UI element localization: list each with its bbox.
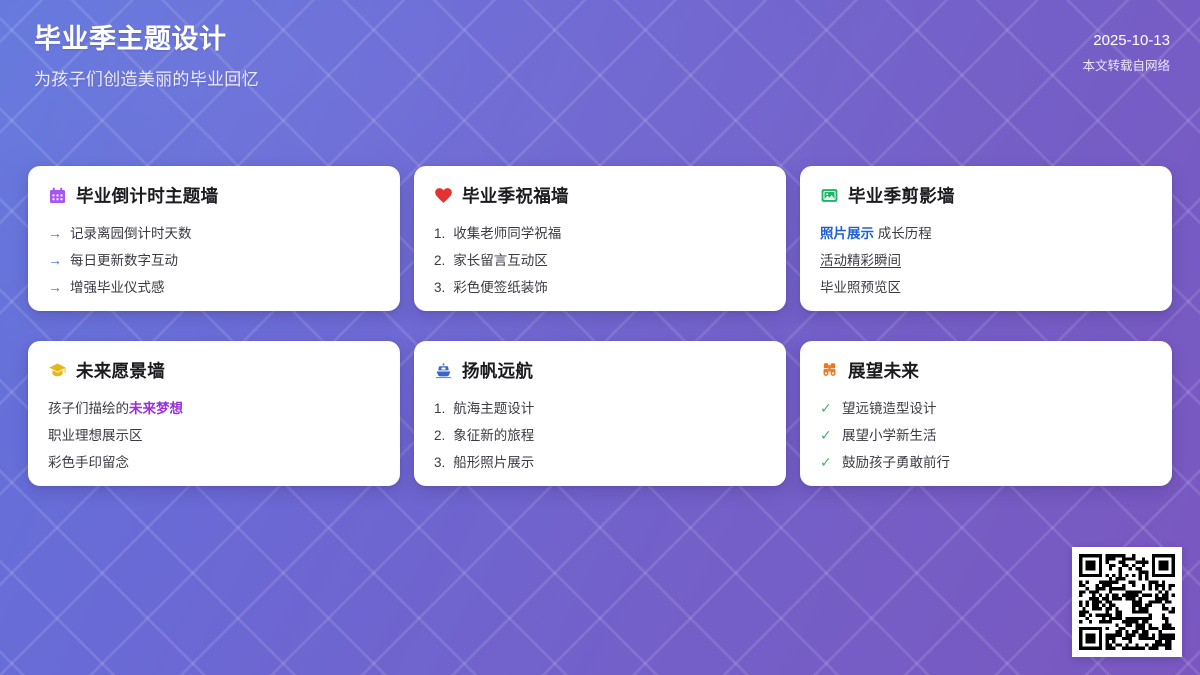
image-icon [820, 186, 839, 205]
body-text: 职业理想展示区 [48, 428, 143, 443]
card-list: 1. 航海主题设计 2. 象征新的旅程 3. 船形照片展示 [434, 395, 766, 476]
highlight-text: 未来梦想 [129, 401, 183, 416]
list-item-marker: 3. [434, 274, 445, 301]
list-item-marker: 1. [434, 395, 445, 422]
card-list: → 记录离园倒计时天数 → 每日更新数字互动 → 增强毕业仪式感 [48, 220, 380, 301]
list-item[interactable]: 1. 航海主题设计 [434, 395, 766, 422]
page-title: 毕业季主题设计 [34, 22, 259, 57]
qr-code-image [1079, 554, 1175, 650]
arrow-right-icon: → [48, 274, 62, 301]
list-item-marker: 1. [434, 220, 445, 247]
card-grid: 毕业倒计时主题墙 → 记录离园倒计时天数 → 每日更新数字互动 → 增强毕业仪式… [28, 166, 1172, 486]
card-header: 未来愿景墙 [48, 358, 380, 383]
qr-code[interactable] [1072, 547, 1182, 657]
list-item[interactable]: ✓ 鼓励孩子勇敢前行 [820, 449, 1152, 476]
card-list: 1. 收集老师同学祝福 2. 家长留言互动区 3. 彩色便签纸装饰 [434, 220, 766, 301]
arrow-right-icon: → [48, 247, 62, 274]
page-subtitle: 为孩子们创造美丽的毕业回忆 [34, 65, 259, 90]
list-item[interactable]: 3. 船形照片展示 [434, 449, 766, 476]
list-item-label: 家长留言互动区 [453, 247, 548, 274]
list-item-label: 记录离园倒计时天数 [70, 220, 192, 247]
source-note: 本文转载自网络 [1082, 56, 1170, 76]
card-3[interactable]: 毕业季剪影墙 照片展示 成长历程活动精彩瞬间毕业照预览区 [800, 166, 1172, 311]
date-label: 2025-10-13 [1082, 30, 1170, 52]
list-item-label: 增强毕业仪式感 [70, 274, 165, 301]
list-item-label: 望远镜造型设计 [842, 395, 937, 422]
card-1[interactable]: 毕业倒计时主题墙 → 记录离园倒计时天数 → 每日更新数字互动 → 增强毕业仪式… [28, 166, 400, 311]
ship-icon [434, 361, 453, 380]
list-item-label: 彩色便签纸装饰 [453, 274, 548, 301]
body-text: 成长历程 [874, 226, 932, 241]
list-item[interactable]: 活动精彩瞬间 [820, 247, 1152, 274]
card-4[interactable]: 未来愿景墙 孩子们描绘的未来梦想职业理想展示区彩色手印留念 [28, 341, 400, 486]
highlight-text: 照片展示 [820, 226, 874, 241]
check-icon: ✓ [820, 449, 834, 476]
list-item-label: 每日更新数字互动 [70, 247, 178, 274]
list-item[interactable]: 孩子们描绘的未来梦想 [48, 395, 380, 422]
header: 毕业季主题设计 为孩子们创造美丽的毕业回忆 [34, 22, 259, 90]
card-header: 毕业季祝福墙 [434, 183, 766, 208]
card-title: 未来愿景墙 [76, 358, 165, 383]
list-item-label: 航海主题设计 [453, 395, 534, 422]
card-title: 毕业季祝福墙 [462, 183, 569, 208]
calendar-icon [48, 186, 67, 205]
list-item-label: 船形照片展示 [453, 449, 534, 476]
card-header: 展望未来 [820, 358, 1152, 383]
check-icon: ✓ [820, 422, 834, 449]
list-item-label: 象征新的旅程 [453, 422, 534, 449]
check-icon: ✓ [820, 395, 834, 422]
list-item[interactable]: 彩色手印留念 [48, 449, 380, 476]
list-item[interactable]: ✓ 展望小学新生活 [820, 422, 1152, 449]
card-title: 毕业季剪影墙 [848, 183, 955, 208]
card-list: ✓ 望远镜造型设计 ✓ 展望小学新生活 ✓ 鼓励孩子勇敢前行 [820, 395, 1152, 476]
card-5[interactable]: 扬帆远航 1. 航海主题设计 2. 象征新的旅程 3. 船形照片展示 [414, 341, 786, 486]
card-title: 扬帆远航 [462, 358, 533, 383]
list-item[interactable]: → 记录离园倒计时天数 [48, 220, 380, 247]
binoculars-icon [820, 361, 839, 380]
list-item[interactable]: 1. 收集老师同学祝福 [434, 220, 766, 247]
body-text: 孩子们描绘的 [48, 401, 129, 416]
list-item-marker: 2. [434, 247, 445, 274]
graduation-cap-icon [48, 361, 67, 380]
list-item[interactable]: 2. 象征新的旅程 [434, 422, 766, 449]
list-item[interactable]: 职业理想展示区 [48, 422, 380, 449]
arrow-right-icon: → [48, 220, 62, 247]
list-item-label: 收集老师同学祝福 [453, 220, 561, 247]
list-item[interactable]: 毕业照预览区 [820, 274, 1152, 301]
heart-icon [434, 186, 453, 205]
link-text[interactable]: 活动精彩瞬间 [820, 253, 901, 268]
card-list: 照片展示 成长历程活动精彩瞬间毕业照预览区 [820, 220, 1152, 301]
list-item[interactable]: → 每日更新数字互动 [48, 247, 380, 274]
list-item-label: 展望小学新生活 [842, 422, 937, 449]
body-text: 彩色手印留念 [48, 455, 129, 470]
card-title: 毕业倒计时主题墙 [76, 183, 218, 208]
card-list: 孩子们描绘的未来梦想职业理想展示区彩色手印留念 [48, 395, 380, 476]
list-item-marker: 2. [434, 422, 445, 449]
card-6[interactable]: 展望未来 ✓ 望远镜造型设计 ✓ 展望小学新生活 ✓ 鼓励孩子勇敢前行 [800, 341, 1172, 486]
card-header: 毕业季剪影墙 [820, 183, 1152, 208]
list-item[interactable]: ✓ 望远镜造型设计 [820, 395, 1152, 422]
card-header: 扬帆远航 [434, 358, 766, 383]
body-text: 毕业照预览区 [820, 280, 901, 295]
list-item[interactable]: 照片展示 成长历程 [820, 220, 1152, 247]
list-item[interactable]: 2. 家长留言互动区 [434, 247, 766, 274]
list-item-label: 鼓励孩子勇敢前行 [842, 449, 950, 476]
list-item[interactable]: 3. 彩色便签纸装饰 [434, 274, 766, 301]
slide-canvas: 毕业季主题设计 为孩子们创造美丽的毕业回忆 2025-10-13 本文转载自网络… [0, 0, 1200, 675]
card-2[interactable]: 毕业季祝福墙 1. 收集老师同学祝福 2. 家长留言互动区 3. 彩色便签纸装饰 [414, 166, 786, 311]
list-item-marker: 3. [434, 449, 445, 476]
card-title: 展望未来 [848, 358, 919, 383]
header-meta: 2025-10-13 本文转载自网络 [1082, 30, 1170, 76]
list-item[interactable]: → 增强毕业仪式感 [48, 274, 380, 301]
card-header: 毕业倒计时主题墙 [48, 183, 380, 208]
